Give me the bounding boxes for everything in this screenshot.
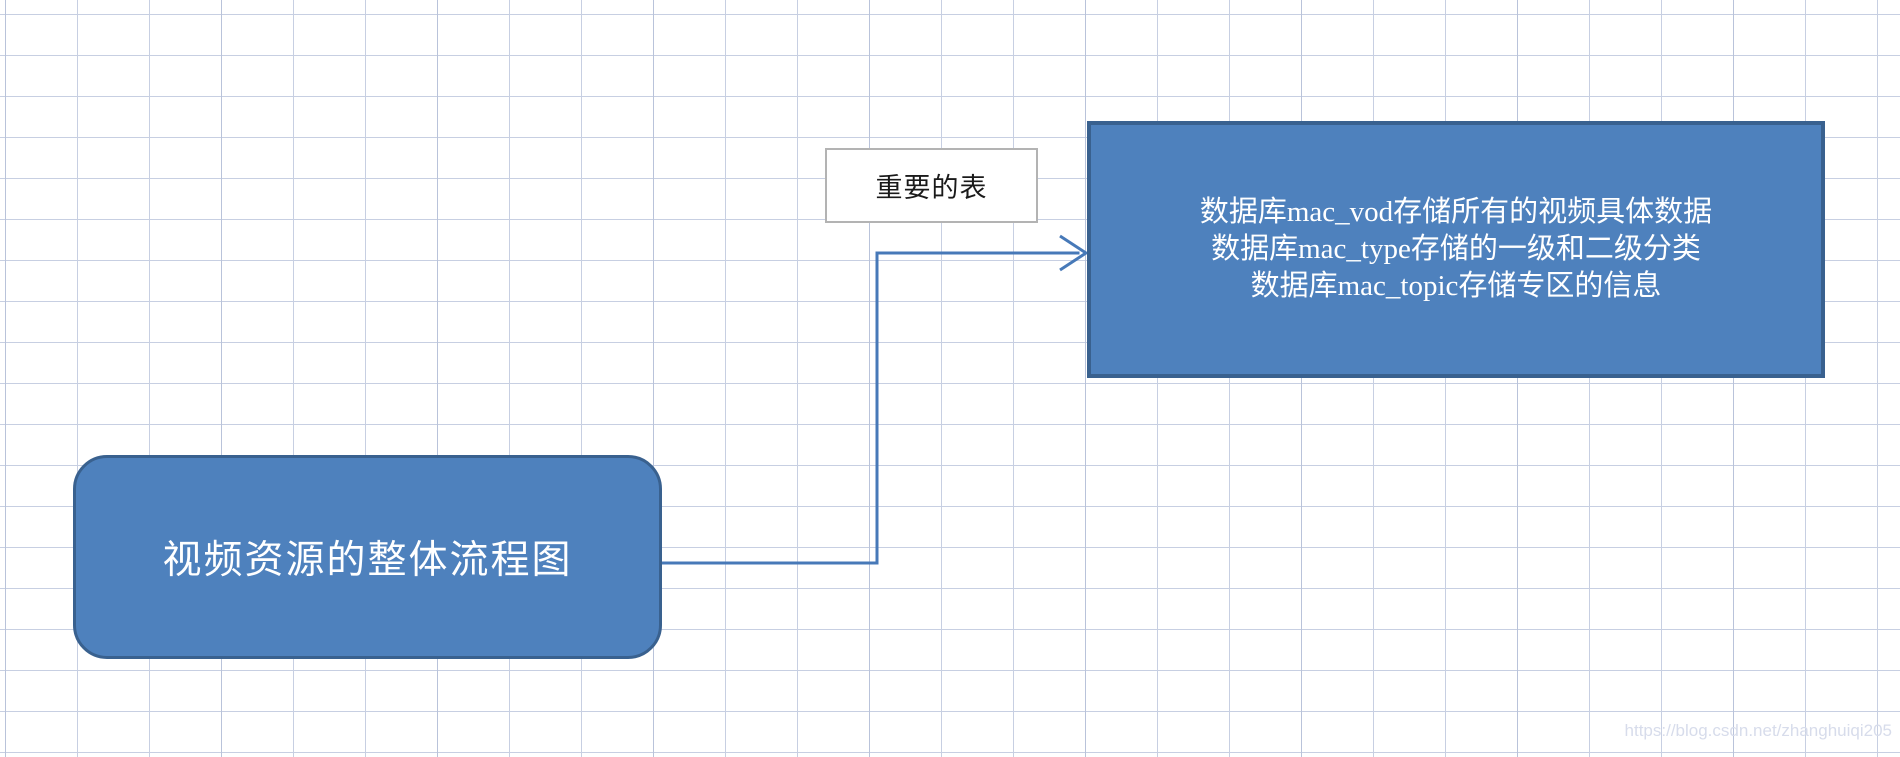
node-important-tables[interactable]: 重要的表 <box>825 148 1038 223</box>
connector-line-overview-to-databases <box>662 253 1078 563</box>
arrowhead-icon <box>1060 236 1086 270</box>
node-databases-line-2: 数据库mac_type存储的一级和二级分类 <box>1200 231 1712 268</box>
node-important-tables-label: 重要的表 <box>876 166 988 205</box>
node-databases-text: 数据库mac_vod存储所有的视频具体数据 数据库mac_type存储的一级和二… <box>1200 194 1712 304</box>
node-databases[interactable]: 数据库mac_vod存储所有的视频具体数据 数据库mac_type存储的一级和二… <box>1087 121 1825 378</box>
node-overview[interactable]: 视频资源的整体流程图 <box>73 455 662 659</box>
diagram-canvas: 视频资源的整体流程图 数据库mac_vod存储所有的视频具体数据 数据库mac_… <box>0 0 1900 757</box>
node-overview-label: 视频资源的整体流程图 <box>162 529 572 585</box>
node-databases-line-1: 数据库mac_vod存储所有的视频具体数据 <box>1200 194 1712 231</box>
watermark-text: https://blog.csdn.net/zhanghuiqi205 <box>1625 721 1892 741</box>
node-databases-line-3: 数据库mac_topic存储专区的信息 <box>1200 268 1712 305</box>
